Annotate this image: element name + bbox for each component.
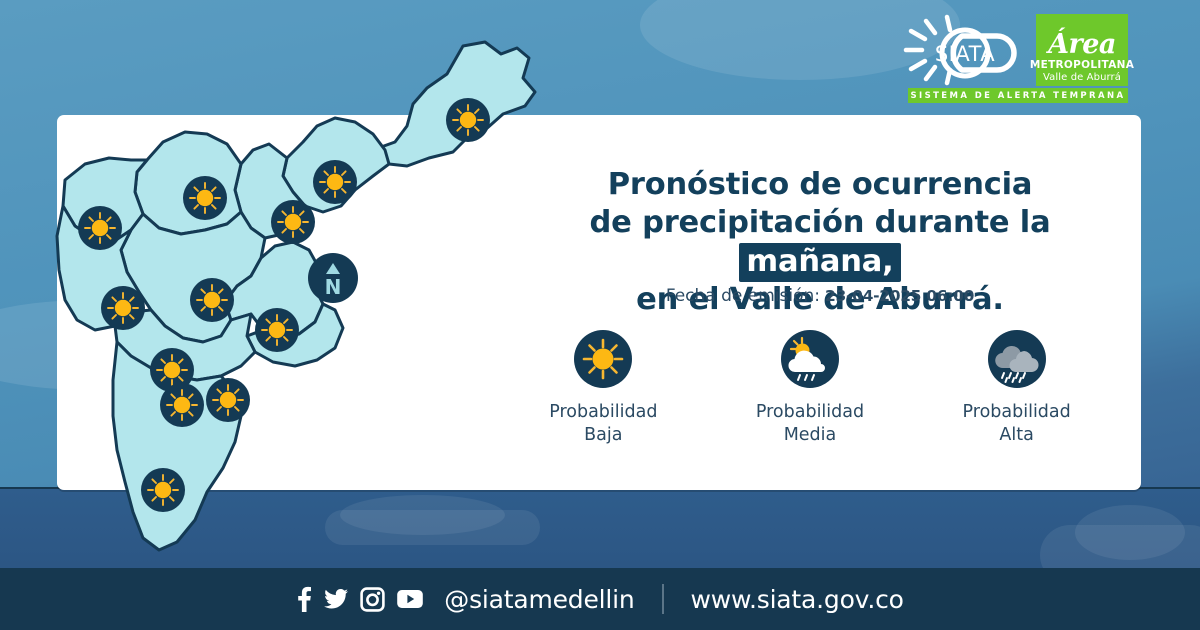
alert-strip: SISTEMA DE ALERTA TEMPRANA xyxy=(908,88,1128,103)
map-marker-sabaneta[interactable] xyxy=(160,383,204,427)
map-marker-san-jeronimo[interactable] xyxy=(78,206,122,250)
alert-strip-text: SISTEMA DE ALERTA TEMPRANA xyxy=(911,91,1126,101)
compass-arrow-icon xyxy=(326,263,340,274)
sun-icon xyxy=(183,176,227,220)
map-marker-envigado[interactable] xyxy=(255,308,299,352)
map-marker-girardota[interactable] xyxy=(313,160,357,204)
probability-legend: ProbabilidadBaja xyxy=(500,330,1120,447)
headline-line-2-text: de precipitación durante la xyxy=(590,205,1051,240)
map-marker-la-estrella[interactable] xyxy=(206,378,250,422)
compass-letter: N xyxy=(325,275,342,299)
legend-badge-media xyxy=(781,330,839,388)
social-icon-group xyxy=(296,585,424,613)
metro-line1: METROPOLITANA xyxy=(1030,60,1134,71)
facebook-icon[interactable] xyxy=(296,585,312,613)
sun-icon xyxy=(160,383,204,427)
area-script: Área xyxy=(1048,31,1116,58)
metro-line2: Valle de Aburrá xyxy=(1043,72,1121,84)
sun-icon xyxy=(141,468,185,512)
map-marker-bello[interactable] xyxy=(183,176,227,220)
sun-icon xyxy=(446,98,490,142)
headline-line-2: de precipitación durante la mañana, xyxy=(520,204,1120,281)
siata-wordmark: SIATA xyxy=(935,42,995,66)
map-marker-barbosa[interactable] xyxy=(446,98,490,142)
compass-rose: N xyxy=(308,253,358,303)
website-url[interactable]: www.siata.gov.co xyxy=(691,585,904,614)
sun-icon xyxy=(78,206,122,250)
legend-item-media: ProbabilidadMedia xyxy=(725,330,895,447)
sun-icon xyxy=(313,160,357,204)
sun-icon xyxy=(574,330,632,388)
emission-date: Fecha de emisión:23-04-2025 06:00 xyxy=(520,286,1120,306)
sun-icon xyxy=(255,308,299,352)
map-marker-copacabana[interactable] xyxy=(271,200,315,244)
legend-label-alta: ProbabilidadAlta xyxy=(963,401,1071,447)
legend-item-alta: ProbabilidadAlta xyxy=(932,330,1102,447)
map-marker-caldas[interactable] xyxy=(141,468,185,512)
legend-label-media: ProbabilidadMedia xyxy=(756,401,864,447)
emission-value: 23-04-2025 06:00 xyxy=(825,287,974,305)
headline-line-1: Pronóstico de ocurrencia xyxy=(520,166,1120,204)
map-marker-guarne[interactable] xyxy=(101,286,145,330)
sun-icon xyxy=(206,378,250,422)
cloud-rain-icon xyxy=(988,330,1046,388)
legend-item-baja: ProbabilidadBaja xyxy=(518,330,688,447)
headline-highlight: mañana, xyxy=(739,243,900,282)
siata-logo: SIATA xyxy=(902,14,1030,86)
social-handle[interactable]: @siatamedellin xyxy=(444,585,634,614)
instagram-icon[interactable] xyxy=(360,587,385,612)
legend-badge-baja xyxy=(574,330,632,388)
legend-label-baja: ProbabilidadBaja xyxy=(549,401,657,447)
legend-badge-alta xyxy=(988,330,1046,388)
sun-icon xyxy=(271,200,315,244)
sun-icon xyxy=(101,286,145,330)
emission-label: Fecha de emisión: xyxy=(666,286,820,306)
sun-icon xyxy=(190,278,234,322)
background-cloud-bottom-right-bump xyxy=(1075,505,1185,560)
valle-de-aburra-map: N xyxy=(55,30,575,570)
map-marker-medellin[interactable] xyxy=(190,278,234,322)
sun-cloud-outline-icon: SIATA xyxy=(902,14,1030,86)
twitter-icon[interactable] xyxy=(323,586,349,612)
logo-group: SIATA Área METROPOLITANA Valle de Aburrá xyxy=(902,14,1128,86)
footer-divider xyxy=(662,584,664,614)
sun-cloud-rain-icon xyxy=(781,330,839,388)
footer-bar: @siatamedellin www.siata.gov.co xyxy=(0,568,1200,630)
youtube-icon[interactable] xyxy=(396,588,424,610)
area-metropolitana-logo: Área METROPOLITANA Valle de Aburrá xyxy=(1036,14,1128,86)
infographic-canvas: SIATA Área METROPOLITANA Valle de Aburrá… xyxy=(0,0,1200,630)
